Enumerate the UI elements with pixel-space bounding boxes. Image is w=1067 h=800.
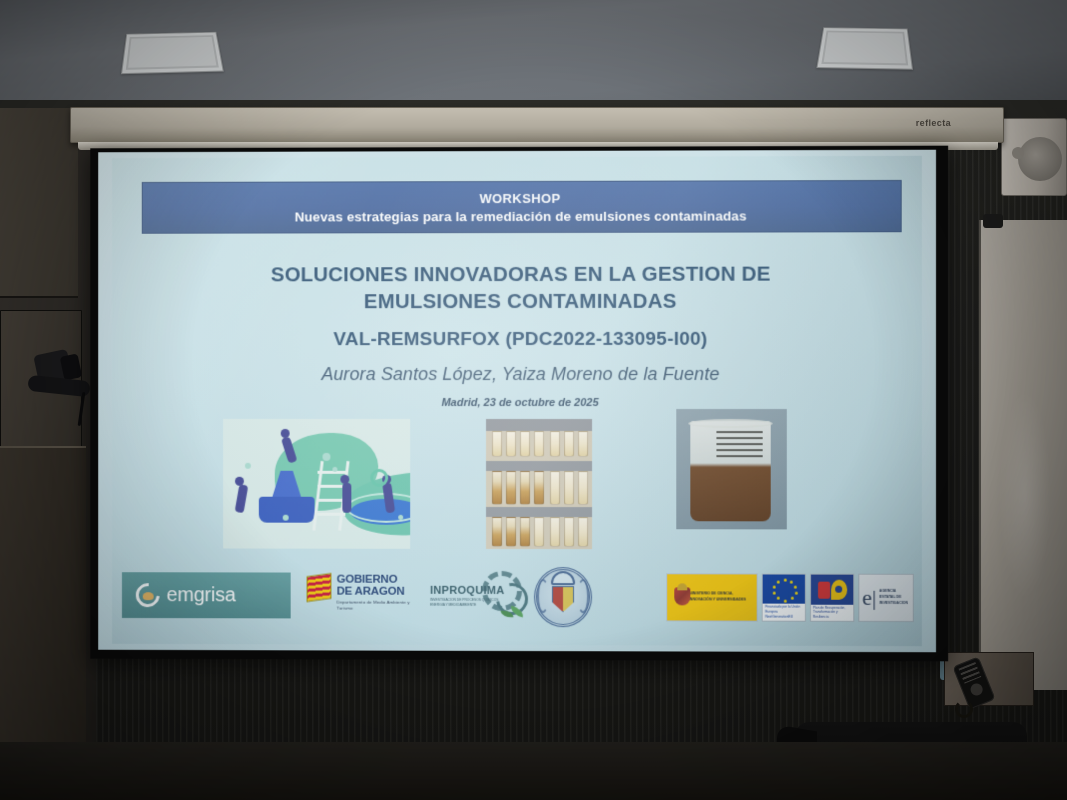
authors-line: Aurora Santos López, Yaiza Moreno de la … bbox=[172, 364, 872, 385]
spain-coat-of-arms-icon bbox=[671, 583, 685, 611]
plan-recuperacion-label: Plan de Recuperación, Transformación y R… bbox=[811, 604, 853, 621]
inproquima-wordmark: INPROQUIMA bbox=[430, 585, 504, 597]
logo-emgrisa: emgrisa bbox=[122, 572, 291, 618]
illustration-scientists-flask bbox=[223, 419, 410, 549]
photo-test-tube-racks bbox=[486, 419, 592, 549]
logo-ministerio-ciencia: MINISTERIO DE CIENCIA, INNOVACIÓN Y UNIV… bbox=[666, 573, 758, 621]
wall-speaker-icon bbox=[1001, 118, 1067, 196]
screen-surface: WORKSHOP Nuevas estrategias para la reme… bbox=[98, 150, 936, 653]
union-europea-label: Financiado por la Unión Europea NextGene… bbox=[763, 604, 805, 621]
logo-union-europea: Financiado por la Unión Europea NextGene… bbox=[762, 573, 806, 621]
logo-universidad-complutense bbox=[534, 567, 592, 627]
aragon-line-2: DE ARAGON bbox=[337, 586, 425, 598]
logo-inproquima: INPROQUIMA INVESTIGACION DE PROCESOS QUI… bbox=[430, 571, 530, 623]
presentation-slide: WORKSHOP Nuevas estrategias para la reme… bbox=[112, 156, 922, 646]
emgrisa-wordmark: emgrisa bbox=[167, 584, 236, 607]
workshop-banner: WORKSHOP Nuevas estrategias para la reme… bbox=[142, 180, 902, 234]
projection-screen: WORKSHOP Nuevas estrategias para la reme… bbox=[90, 146, 948, 662]
date-location-line: Madrid, 23 de octubre de 2025 bbox=[172, 397, 872, 409]
ceiling-camera-icon bbox=[26, 352, 84, 414]
aragon-flag-icon bbox=[307, 573, 332, 602]
workshop-subtitle: Nuevas estrategias para la remediación d… bbox=[295, 208, 747, 224]
slide-logos-row: emgrisa GOBIERNO DE ARAGON Departamento … bbox=[112, 564, 922, 636]
inproquima-subtitle: INVESTIGACION DE PROCESOS QUIMICOS ENERG… bbox=[430, 598, 508, 608]
ceiling-vent-left-icon bbox=[121, 32, 224, 74]
slide-main-title: SOLUCIONES INNOVADORAS EN LA GESTION DE … bbox=[172, 260, 872, 315]
meeting-room: reflecta WORKSHOP Nuevas estrategias par… bbox=[0, 0, 1067, 800]
funding-logos: MINISTERIO DE CIENCIA, INNOVACIÓN Y UNIV… bbox=[666, 573, 914, 622]
ceiling-vent-right-icon bbox=[816, 27, 913, 69]
logo-agencia-estatal-investigacion: e| AGENCIA ESTATAL DE INVESTIGACION bbox=[858, 574, 914, 622]
eu-flag-icon bbox=[763, 575, 805, 604]
aragon-subtitle: Departamento de Medio Ambiente y Turismo bbox=[337, 600, 425, 612]
screen-brand-label: reflecta bbox=[916, 118, 951, 128]
floor bbox=[0, 742, 1067, 800]
emgrisa-mark-icon bbox=[136, 583, 160, 607]
hook-icon bbox=[955, 700, 973, 718]
aei-label: AGENCIA ESTATAL DE INVESTIGACION bbox=[879, 589, 909, 606]
aei-mark-icon: e| bbox=[862, 587, 876, 609]
logo-plan-recuperacion: Plan de Recuperación, Transformación y R… bbox=[810, 574, 854, 622]
prtr-emblem-icon bbox=[811, 575, 853, 605]
project-code: VAL-REMSURFOX (PDC2022-133095-I00) bbox=[172, 329, 872, 352]
slide-title-line-2: EMULSIONES CONTAMINADAS bbox=[172, 288, 872, 316]
slide-images-row bbox=[112, 419, 922, 555]
logo-gobierno-aragon: GOBIERNO DE ARAGON Departamento de Medio… bbox=[307, 575, 425, 619]
workshop-title: WORKSHOP bbox=[479, 190, 560, 205]
podium bbox=[0, 446, 86, 746]
ministerio-label: MINISTERIO DE CIENCIA, INNOVACIÓN Y UNIV… bbox=[689, 592, 753, 603]
whiteboard bbox=[979, 220, 1067, 690]
left-upper-cabinet bbox=[0, 108, 78, 298]
slide-title-line-1: SOLUCIONES INNOVADORAS EN LA GESTION DE bbox=[172, 260, 872, 288]
projector-screen-housing: reflecta bbox=[70, 107, 1004, 143]
photo-beaker-emulsion bbox=[676, 409, 787, 529]
